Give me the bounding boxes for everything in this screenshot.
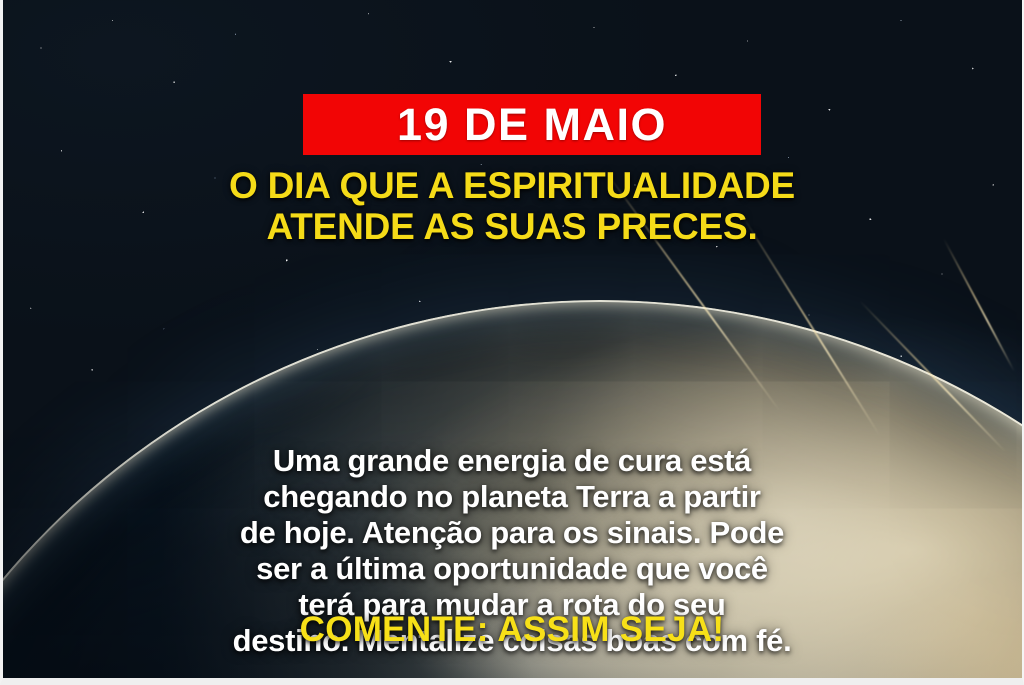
headline-line-1: O DIA QUE A ESPIRITUALIDADE: [0, 165, 1024, 206]
headline-line-2: ATENDE AS SUAS PRECES.: [0, 206, 1024, 247]
body-line-3: de hoje. Atenção para os sinais. Pode: [0, 515, 1024, 551]
poster-root: 19 DE MAIO O DIA QUE A ESPIRITUALIDADE A…: [0, 0, 1024, 685]
call-to-action: COMENTE: ASSIM SEJA!: [0, 612, 1024, 647]
headline: O DIA QUE A ESPIRITUALIDADE ATENDE AS SU…: [0, 165, 1024, 248]
date-banner-text: 19 DE MAIO: [397, 102, 667, 147]
body-line-2: chegando no planeta Terra a partir: [0, 479, 1024, 515]
poster-content: 19 DE MAIO O DIA QUE A ESPIRITUALIDADE A…: [0, 0, 1024, 685]
body-line-4: ser a última oportunidade que você: [0, 551, 1024, 587]
body-line-1: Uma grande energia de cura está: [0, 443, 1024, 479]
date-banner: 19 DE MAIO: [303, 94, 761, 155]
